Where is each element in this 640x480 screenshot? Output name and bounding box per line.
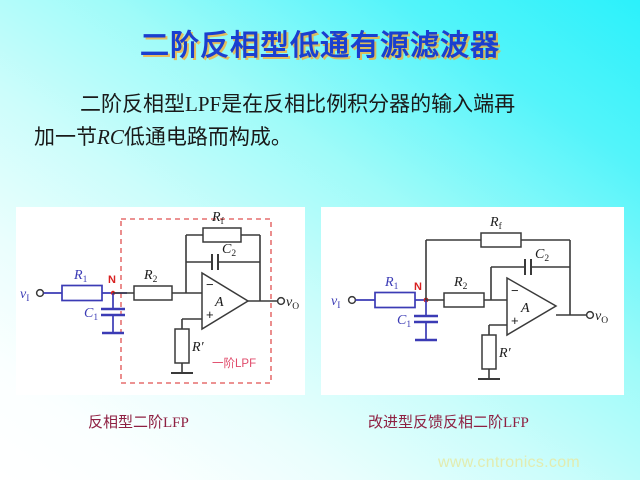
circuit-diagram-right: vI R1 N C1 Rf R2 (321, 207, 624, 395)
page-title: 二阶反相型低通有源滤波器 (0, 22, 640, 64)
figure-panel-left: vI R1 N C1 R2 − (16, 207, 305, 395)
opamp-minus-sign-left: − (206, 277, 214, 292)
resistor-r2-right (444, 293, 484, 307)
resistor-r1-right (375, 293, 415, 308)
input-label-right: vI (331, 294, 340, 311)
resistor-rprime-left (175, 329, 189, 363)
output-terminal-left (278, 298, 285, 305)
resistor-r1-label-right: R1 (384, 275, 399, 292)
resistor-rf-right (481, 233, 521, 247)
capacitor-c1-label-left: C1 (84, 306, 98, 323)
resistor-r2-left (134, 286, 172, 300)
resistor-rprime-label-right: R′ (498, 346, 512, 361)
resistor-rprime-label-left: R′ (191, 340, 205, 355)
body-line-1: 二阶反相型LPF是在反相比例积分器的输入端再 (80, 92, 515, 116)
resistor-r2-label-right: R2 (453, 275, 468, 292)
resistor-r1-label-left: R1 (73, 268, 88, 285)
node-n-label-left: N (108, 274, 116, 286)
watermark: www.cntronics.com (438, 454, 580, 472)
output-terminal-right (587, 312, 594, 319)
input-terminal-left (37, 290, 44, 297)
circuit-diagram-left: vI R1 N C1 R2 − (16, 207, 305, 395)
node-n-label-right: N (414, 281, 422, 293)
resistor-rprime-right (482, 335, 496, 369)
resistor-r1-left (62, 286, 102, 301)
opamp-minus-sign-right: − (511, 283, 519, 298)
input-label-left: vI (20, 287, 29, 304)
resistor-rf-label-right: Rf (489, 215, 503, 232)
opamp-label-right: A (520, 301, 530, 316)
capacitor-c1-label-right: C1 (397, 313, 411, 330)
slide-canvas: 二阶反相型低通有源滤波器 二阶反相型LPF是在反相比例积分器的输入端再 加一节R… (0, 0, 640, 480)
resistor-rf-label-left: Rf (211, 210, 225, 227)
figure-panel-right: vI R1 N C1 Rf R2 (321, 207, 624, 395)
first-order-lpf-label-left: 一阶LPF (212, 356, 256, 370)
figure-caption-left: 反相型二阶LFP (88, 411, 189, 432)
opamp-label-left: A (214, 295, 224, 310)
resistor-rf-left (203, 228, 241, 242)
body-line-2-suffix: 低通电路而构成。 (124, 125, 292, 149)
figure-caption-right: 改进型反馈反相二阶LFP (368, 411, 529, 432)
body-paragraph: 二阶反相型LPF是在反相比例积分器的输入端再 加一节RC低通电路而构成。 (34, 88, 614, 153)
body-line-2-italic: RC (97, 125, 124, 149)
output-label-left: vO (286, 295, 299, 312)
input-terminal-right (349, 297, 356, 304)
opamp-plus-sign-right: + (511, 313, 519, 328)
opamp-plus-sign-left: + (206, 307, 214, 322)
output-label-right: vO (595, 309, 608, 326)
body-line-2-prefix: 加一节 (34, 125, 97, 149)
capacitor-c2-label-right: C2 (535, 247, 549, 264)
capacitor-c2-label-left: C2 (222, 242, 236, 259)
resistor-r2-label-left: R2 (143, 268, 158, 285)
